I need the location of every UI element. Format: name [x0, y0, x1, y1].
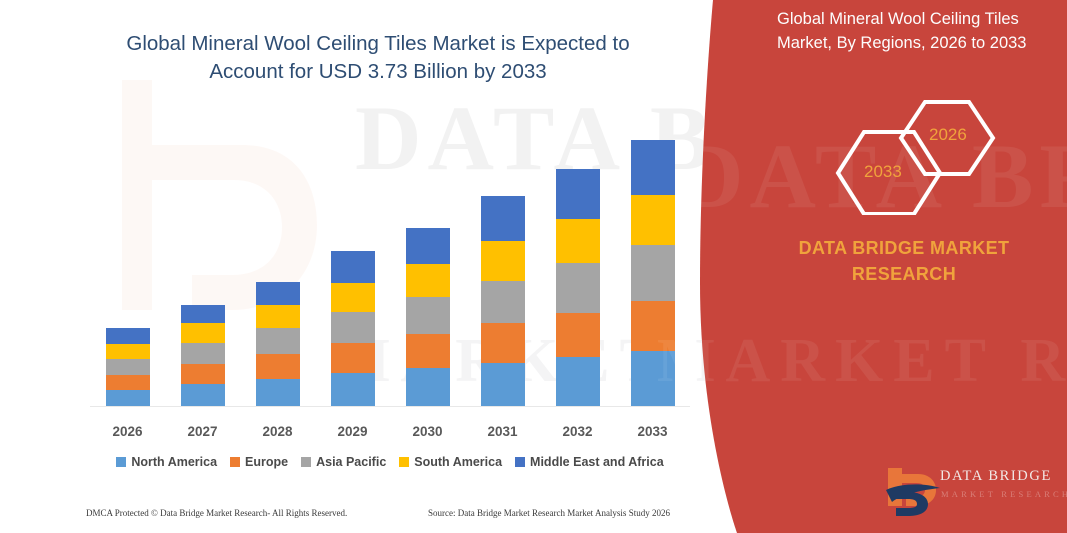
legend-item-middle-east-and-africa[interactable]: Middle East and Africa [515, 455, 664, 469]
bar-segment-north-america [256, 379, 300, 406]
stacked-bar-2026 [106, 328, 150, 406]
chart-legend: North AmericaEuropeAsia PacificSouth Ame… [90, 455, 690, 469]
legend-label: South America [414, 455, 502, 469]
hexagon-2033-label: 2033 [864, 162, 902, 182]
legend-label: Europe [245, 455, 288, 469]
bar-segment-middle-east-and-africa [631, 140, 675, 195]
legend-item-europe[interactable]: Europe [230, 455, 288, 469]
legend-swatch-icon [301, 457, 311, 467]
stacked-bar-2029 [331, 251, 375, 406]
x-axis-label-2030: 2030 [390, 424, 465, 439]
chart-axis-line [90, 406, 690, 407]
legend-swatch-icon [230, 457, 240, 467]
legend-swatch-icon [399, 457, 409, 467]
hexagon-2026-label: 2026 [929, 125, 967, 145]
right-panel-content: DATA BRIDGE MARKET RESEARCH Global Miner… [737, 0, 1067, 533]
bar-segment-europe [106, 375, 150, 391]
x-axis-label-2028: 2028 [240, 424, 315, 439]
legend-item-south-america[interactable]: South America [399, 455, 502, 469]
stacked-bar-2030 [406, 228, 450, 406]
bar-segment-asia-pacific [556, 263, 600, 313]
bar-segment-south-america [556, 219, 600, 264]
bar-segment-south-america [481, 241, 525, 280]
bar-segment-north-america [181, 384, 225, 406]
legend-item-asia-pacific[interactable]: Asia Pacific [301, 455, 386, 469]
legend-item-north-america[interactable]: North America [116, 455, 217, 469]
legend-swatch-icon [515, 457, 525, 467]
x-axis-label-2027: 2027 [165, 424, 240, 439]
x-axis-labels: 20262027202820292030203120322033 [90, 424, 690, 439]
x-axis-label-2026: 2026 [90, 424, 165, 439]
stacked-bar-2031 [481, 196, 525, 406]
bar-segment-south-america [631, 195, 675, 245]
logo-wordmark: DATA BRIDGE [940, 468, 1052, 485]
bar-segment-south-america [256, 305, 300, 329]
legend-label: Asia Pacific [316, 455, 386, 469]
bar-segment-europe [181, 364, 225, 385]
bar-column [390, 140, 465, 406]
stacked-bar-2027 [181, 305, 225, 406]
hexagon-group: 2026 2033 [747, 95, 1057, 215]
footer-copyright: DMCA Protected © Data Bridge Market Rese… [86, 508, 347, 518]
legend-label: Middle East and Africa [530, 455, 664, 469]
stacked-bar-2028 [256, 282, 300, 406]
bar-segment-south-america [406, 264, 450, 297]
hexagon-shapes-icon [747, 95, 1057, 215]
right-panel-title: Global Mineral Wool Ceiling Tiles Market… [777, 8, 1062, 56]
x-axis-label-2029: 2029 [315, 424, 390, 439]
x-axis-label-2031: 2031 [465, 424, 540, 439]
bar-segment-middle-east-and-africa [106, 328, 150, 344]
bar-segment-north-america [481, 363, 525, 406]
bar-column [90, 140, 165, 406]
bar-column [165, 140, 240, 406]
left-chart-panel: DATA BRIDGE MARKET RESEARCH Global Miner… [0, 0, 760, 533]
bar-segment-asia-pacific [256, 328, 300, 354]
bar-segment-europe [331, 343, 375, 373]
bar-segment-asia-pacific [481, 281, 525, 323]
x-axis-label-2032: 2032 [540, 424, 615, 439]
right-watermark-line2: MARKET RESEARCH [657, 330, 1067, 392]
bar-segment-middle-east-and-africa [481, 196, 525, 242]
stacked-bar-2032 [556, 169, 600, 406]
bar-column [540, 140, 615, 406]
bar-segment-middle-east-and-africa [406, 228, 450, 264]
bar-segment-north-america [556, 357, 600, 406]
bar-segment-asia-pacific [106, 359, 150, 375]
bar-segment-europe [481, 323, 525, 362]
bar-segment-europe [406, 334, 450, 368]
legend-label: North America [131, 455, 217, 469]
bar-segment-asia-pacific [331, 312, 375, 343]
bar-segment-middle-east-and-africa [556, 169, 600, 219]
bar-column [240, 140, 315, 406]
bar-segment-middle-east-and-africa [181, 305, 225, 324]
logo-subtitle: MARKET RESEARCH [941, 489, 1067, 499]
bar-segment-south-america [106, 344, 150, 360]
footer-source: Source: Data Bridge Market Research Mark… [428, 508, 670, 518]
right-panel-brand: DATA BRIDGE MARKET RESEARCH [759, 235, 1049, 287]
bar-segment-middle-east-and-africa [256, 282, 300, 305]
bar-segment-middle-east-and-africa [331, 251, 375, 283]
bar-segment-north-america [106, 390, 150, 406]
bar-segment-europe [256, 354, 300, 379]
footer: DMCA Protected © Data Bridge Market Rese… [0, 508, 700, 526]
infographic-canvas: DATA BRIDGE MARKET RESEARCH Global Miner… [0, 0, 1067, 533]
legend-swatch-icon [116, 457, 126, 467]
bar-segment-south-america [181, 323, 225, 343]
bar-column [315, 140, 390, 406]
bar-segment-asia-pacific [406, 297, 450, 333]
bar-segment-south-america [331, 283, 375, 312]
bar-segment-europe [556, 313, 600, 358]
bar-column [465, 140, 540, 406]
bar-segment-asia-pacific [631, 245, 675, 302]
bar-segment-asia-pacific [181, 343, 225, 364]
bar-segment-north-america [406, 368, 450, 406]
stacked-bar-chart [90, 140, 690, 406]
bar-segment-north-america [331, 373, 375, 406]
x-axis-label-2033: 2033 [615, 424, 690, 439]
chart-title: Global Mineral Wool Ceiling Tiles Market… [88, 30, 668, 85]
